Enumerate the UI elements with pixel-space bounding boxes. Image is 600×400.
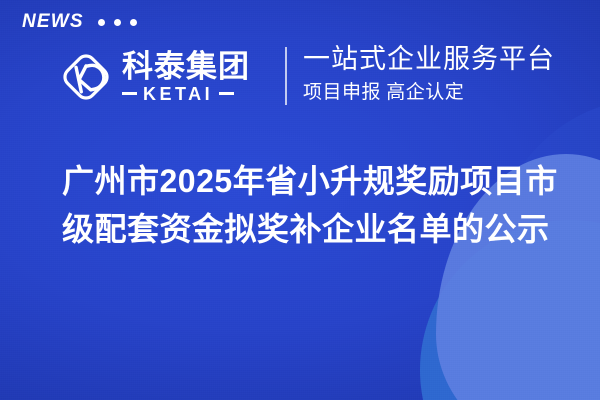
brand-name-en: KETAI — [143, 85, 213, 103]
news-header: NEWS — [22, 12, 137, 31]
brand-logo-group: 科泰集团 KETAI — [58, 40, 250, 114]
news-label: NEWS — [22, 12, 84, 31]
brand-name-en-row: KETAI — [122, 85, 250, 103]
brand-wordmark: 科泰集团 KETAI — [122, 51, 250, 103]
tagline-group: 一站式企业服务平台 项目申报 高企认定 — [303, 44, 555, 106]
news-banner: NEWS 科泰集团 — [0, 0, 600, 400]
vertical-divider — [285, 47, 287, 105]
news-dots-icon — [98, 17, 137, 26]
dash-left-icon — [122, 92, 137, 95]
dot-icon — [98, 19, 105, 26]
dot-icon — [114, 19, 121, 26]
dash-right-icon — [219, 92, 234, 95]
ketai-diamond-kd-logo-icon — [58, 49, 114, 105]
tagline-main: 一站式企业服务平台 — [303, 44, 555, 76]
tagline-sub: 项目申报 高企认定 — [303, 81, 555, 106]
brand-name-cn: 科泰集团 — [122, 51, 250, 84]
page-title: 广州市2025年省小升规奖励项目市级配套资金拟奖补企业名单的公示 — [62, 157, 568, 253]
dot-icon — [130, 19, 137, 26]
